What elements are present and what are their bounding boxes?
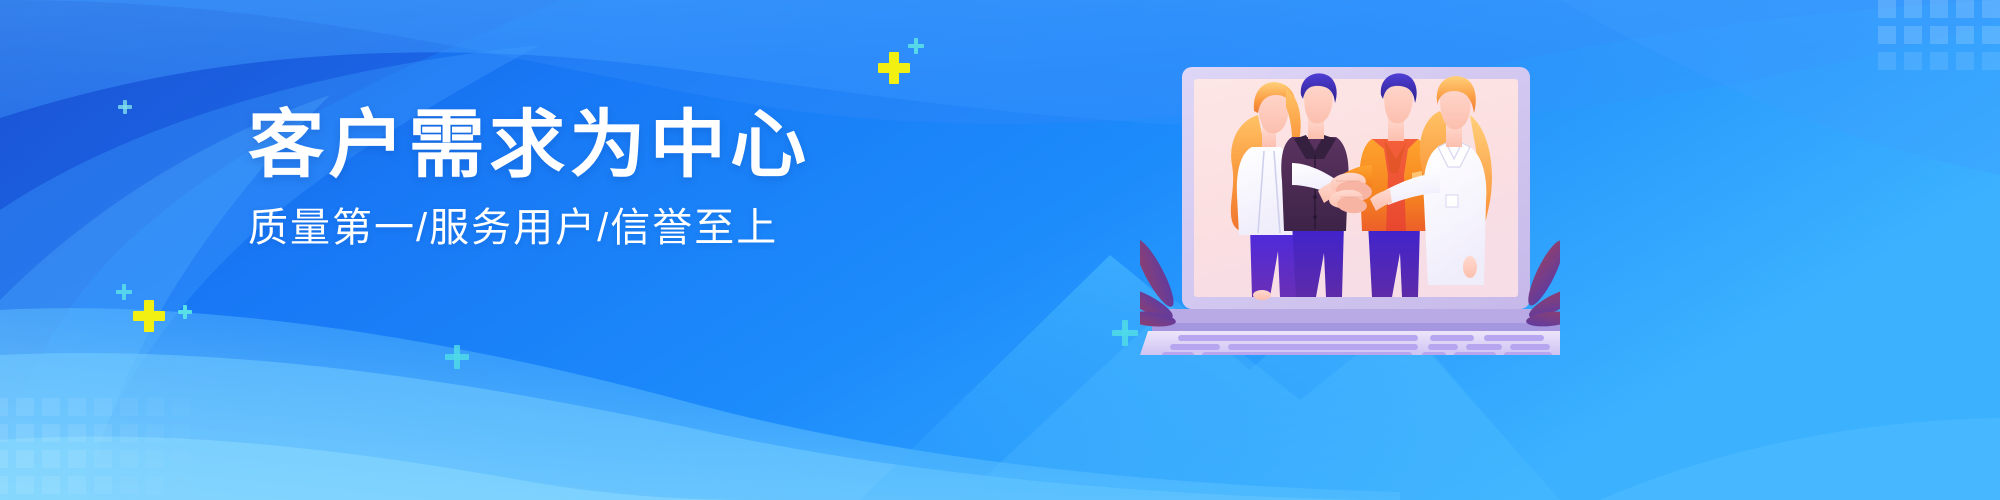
text-block: 客户需求为中心 质量第一/服务用户/信誉至上 [248,108,848,248]
subtitle: 质量第一/服务用户/信誉至上 [248,208,848,248]
background-waves [0,0,2000,500]
headline: 客户需求为中心 [248,108,866,182]
promo-banner: 客户需求为中心 质量第一/服务用户/信誉至上 [0,0,2000,500]
laptop-teamwork-illustration [1140,55,1560,355]
